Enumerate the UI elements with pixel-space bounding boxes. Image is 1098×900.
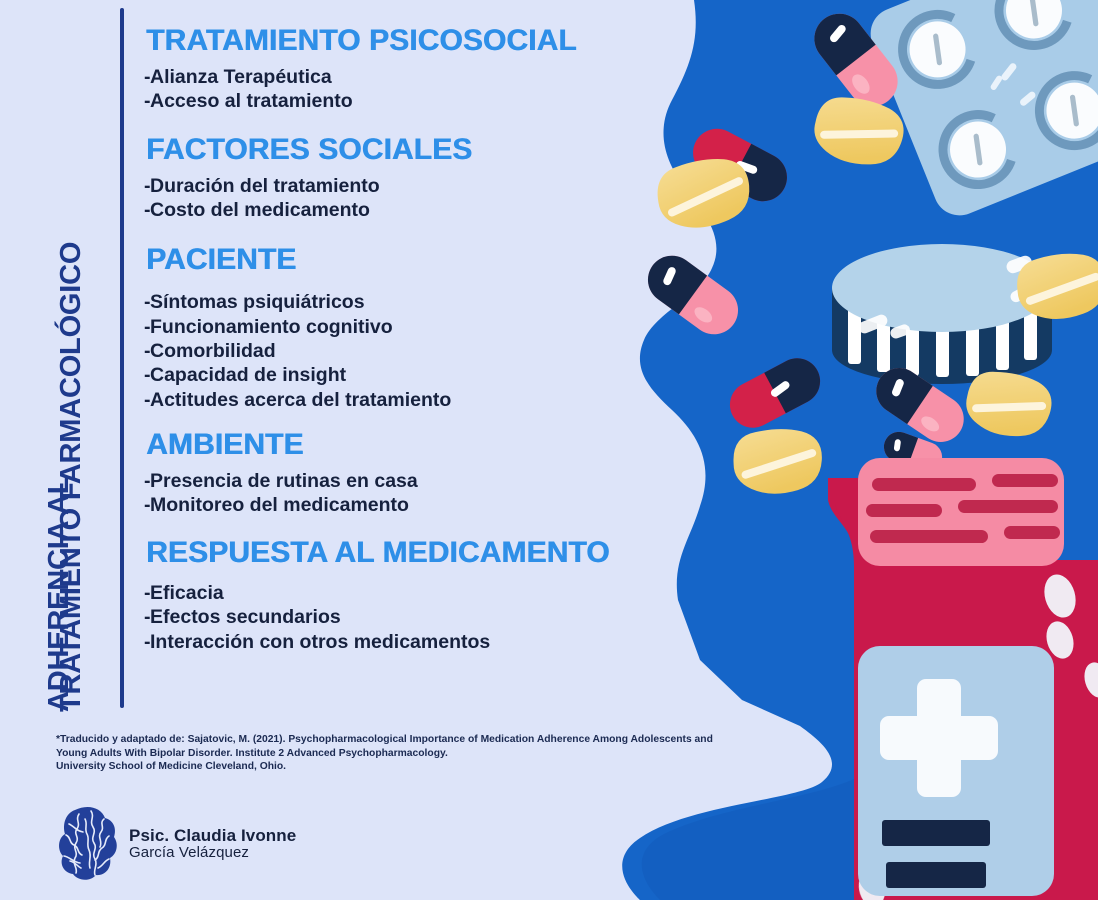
vertical-divider: [120, 8, 124, 708]
section-heading: AMBIENTE: [146, 428, 664, 462]
list-item: -Funcionamiento cognitivo: [144, 315, 664, 339]
list-item: -Síntomas psiquiátricos: [144, 290, 664, 314]
tablet-yellow: [810, 93, 908, 171]
section-tratamiento-psicosocial: TRATAMIENTO PSICOSOCIAL -Alianza Terapéu…: [144, 24, 664, 113]
blister-pack: [863, 0, 1098, 223]
capsule-navy-pink: [804, 4, 907, 117]
medicine-bottle: [828, 458, 1098, 900]
list-item-label: Monitoreo del medicamento: [150, 494, 409, 516]
author-signature: Psic. Claudia Ivonne García Velázquez: [52, 806, 296, 882]
bottle-cap-pink: [858, 458, 1064, 566]
capsule-crimson-navy: [722, 350, 828, 436]
tablet-yellow: [962, 368, 1055, 442]
signature-text: Psic. Claudia Ivonne García Velázquez: [129, 826, 296, 862]
section-factores-sociales: FACTORES SOCIALES -Duración del tratamie…: [144, 133, 664, 222]
list-item-label: Actitudes acerca del tratamiento: [150, 389, 451, 411]
list-item-label: Presencia de rutinas en casa: [150, 470, 418, 492]
list-item: -Costo del medicamento: [144, 198, 664, 222]
source-footnote: *Traducido y adaptado de: Sajatovic, M. …: [56, 733, 816, 774]
author-name: Psic. Claudia Ivonne: [129, 826, 296, 845]
list-item-label: Funcionamiento cognitivo: [150, 316, 393, 338]
capsule-navy-pink: [880, 428, 947, 477]
bottle-highlights: [856, 571, 1098, 900]
list-item: -Acceso al tratamiento: [144, 89, 664, 113]
tablet-yellow: [651, 150, 757, 237]
brain-logo-spacer: [52, 806, 118, 882]
list-item: -Interacción con otros medicamentos: [144, 630, 664, 654]
list-item: -Actitudes acerca del tratamiento: [144, 388, 664, 412]
tablet-yellow: [730, 425, 825, 498]
section-heading: FACTORES SOCIALES: [146, 133, 664, 167]
list-item: -Eficacia: [144, 581, 664, 605]
medical-cross-icon: [880, 679, 998, 797]
section-ambiente: AMBIENTE -Presencia de rutinas en casa -…: [144, 428, 664, 517]
capsule-crimson-navy: [685, 120, 796, 209]
list-item-label: Interacción con otros medicamentos: [150, 631, 490, 653]
section-items: -Duración del tratamiento -Costo del med…: [144, 174, 664, 223]
list-item: -Presencia de rutinas en casa: [144, 469, 664, 493]
sections-list: TRATAMIENTO PSICOSOCIAL -Alianza Terapéu…: [144, 24, 664, 670]
list-item-label: Duración del tratamiento: [150, 175, 380, 197]
section-heading: RESPUESTA AL MEDICAMENTO: [146, 536, 664, 570]
list-item-label: Capacidad de insight: [150, 364, 346, 386]
list-item-label: Alianza Terapéutica: [150, 66, 332, 88]
section-items: -Presencia de rutinas en casa -Monitoreo…: [144, 469, 664, 518]
section-paciente: PACIENTE -Síntomas psiquiátricos -Funcio…: [144, 243, 664, 412]
section-items: -Eficacia -Efectos secundarios -Interacc…: [144, 581, 664, 654]
section-items: -Alianza Terapéutica -Acceso al tratamie…: [144, 65, 664, 114]
list-item: -Alianza Terapéutica: [144, 65, 664, 89]
footnote-line-3: University School of Medicine Cleveland,…: [56, 760, 816, 774]
label-text-bars: [882, 820, 990, 888]
bottle-body: [828, 478, 1026, 900]
list-item-label: Síntomas psiquiátricos: [150, 291, 365, 313]
vertical-title: ADHERENCIA AL TRATAMIENTO FARMACOLÓGICO: [0, 0, 118, 720]
list-item: -Duración del tratamiento: [144, 174, 664, 198]
infographic-poster: ADHERENCIA AL TRATAMIENTO FARMACOLÓGICO …: [0, 0, 1098, 900]
list-item: -Capacidad de insight: [144, 363, 664, 387]
footnote-line-1: *Traducido y adaptado de: Sajatovic, M. …: [56, 733, 816, 747]
section-respuesta-al-medicamento: RESPUESTA AL MEDICAMENTO -Eficacia -Efec…: [144, 536, 664, 655]
capsule-navy-pink: [867, 359, 972, 451]
section-items: -Síntomas psiquiátricos -Funcionamiento …: [144, 290, 664, 412]
bottle-label: [858, 646, 1054, 896]
list-item: -Comorbilidad: [144, 339, 664, 363]
author-surname: García Velázquez: [129, 845, 296, 862]
section-heading: TRATAMIENTO PSICOSOCIAL: [146, 24, 664, 58]
footnote-line-2: Young Adults With Bipolar Disorder. Inst…: [56, 747, 816, 761]
section-heading: PACIENTE: [146, 243, 664, 277]
cap-ribs: [866, 474, 1060, 543]
list-item-label: Comorbilidad: [150, 340, 276, 362]
tablet-yellow: [1012, 247, 1098, 326]
list-item-label: Eficacia: [150, 582, 224, 604]
list-item-label: Costo del medicamento: [150, 199, 370, 221]
vertical-title-line2: TRATAMIENTO FARMACOLÓGICO: [55, 242, 88, 712]
list-item-label: Efectos secundarios: [150, 606, 341, 628]
bottle-cap: [832, 244, 1059, 384]
list-item: -Monitoreo del medicamento: [144, 493, 664, 517]
list-item: -Efectos secundarios: [144, 605, 664, 629]
list-item-label: Acceso al tratamiento: [150, 90, 353, 112]
